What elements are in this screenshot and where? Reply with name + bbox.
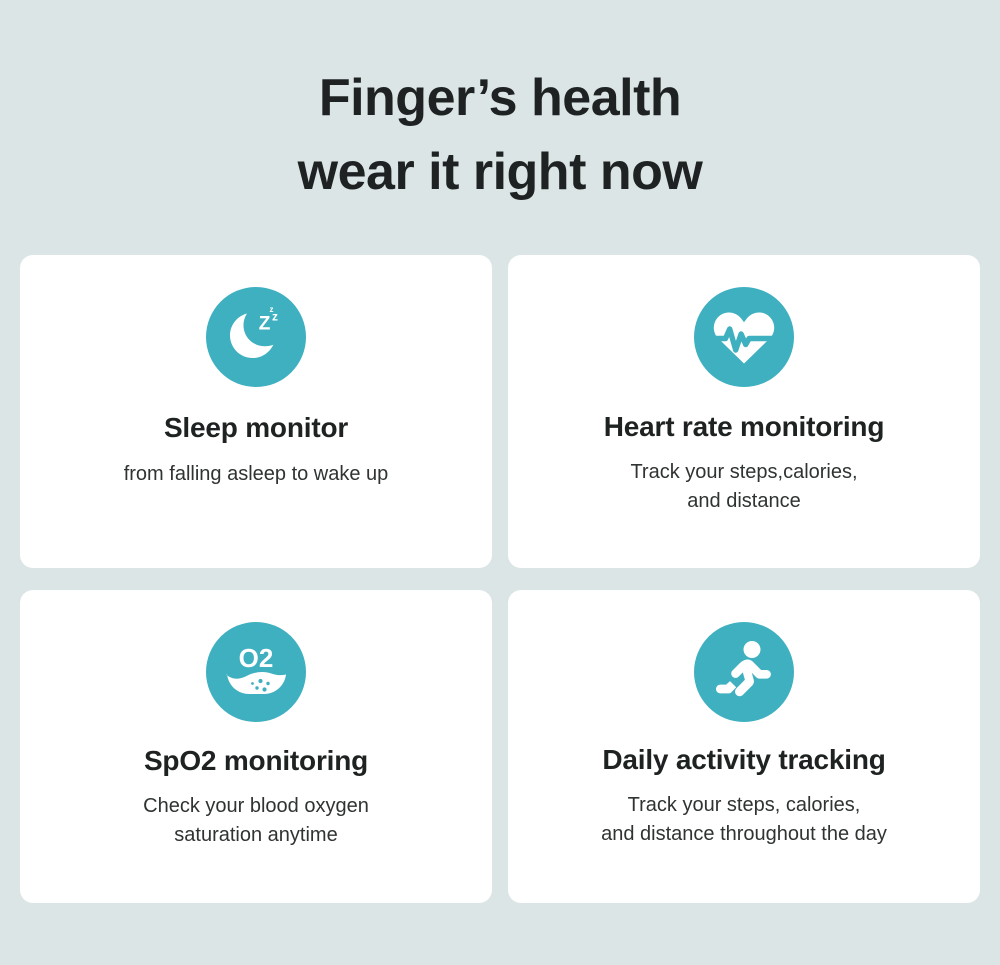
svg-text:z: z <box>270 305 274 314</box>
feature-card-title: Heart rate monitoring <box>604 410 885 444</box>
feature-highlights-page: Finger’s health wear it right now Z z z … <box>0 0 1000 965</box>
feature-card-title: Sleep monitor <box>164 411 348 445</box>
o2-droplet-icon: O2 <box>206 622 306 722</box>
feature-card-title: Daily activity tracking <box>602 743 885 777</box>
svg-text:Z: Z <box>259 314 271 335</box>
page-title-line-1: Finger’s health <box>0 62 1000 136</box>
feature-card-description: Check your blood oxygen saturation anyti… <box>143 792 369 850</box>
feature-card-description: from falling asleep to wake up <box>124 460 389 489</box>
feature-card-title: SpO2 monitoring <box>144 744 368 778</box>
running-person-icon <box>694 622 794 722</box>
page-title: Finger’s health wear it right now <box>0 62 1000 210</box>
feature-card-description: Track your steps,calories, and distance <box>630 458 857 516</box>
feature-card-grid: Z z z Sleep monitor from falling asleep … <box>20 255 980 903</box>
moon-zzz-icon: Z z z <box>206 287 306 387</box>
feature-card-heart-rate[interactable]: Heart rate monitoring Track your steps,c… <box>508 255 980 568</box>
feature-card-daily-activity[interactable]: Daily activity tracking Track your steps… <box>508 590 980 903</box>
heart-pulse-icon <box>694 287 794 387</box>
feature-card-spo2[interactable]: O2 SpO2 monitoring Check your blood oxyg… <box>20 590 492 903</box>
svg-text:O2: O2 <box>239 643 274 673</box>
feature-card-sleep-monitor[interactable]: Z z z Sleep monitor from falling asleep … <box>20 255 492 568</box>
feature-card-description: Track your steps, calories, and distance… <box>601 791 887 849</box>
page-title-line-2: wear it right now <box>0 136 1000 210</box>
